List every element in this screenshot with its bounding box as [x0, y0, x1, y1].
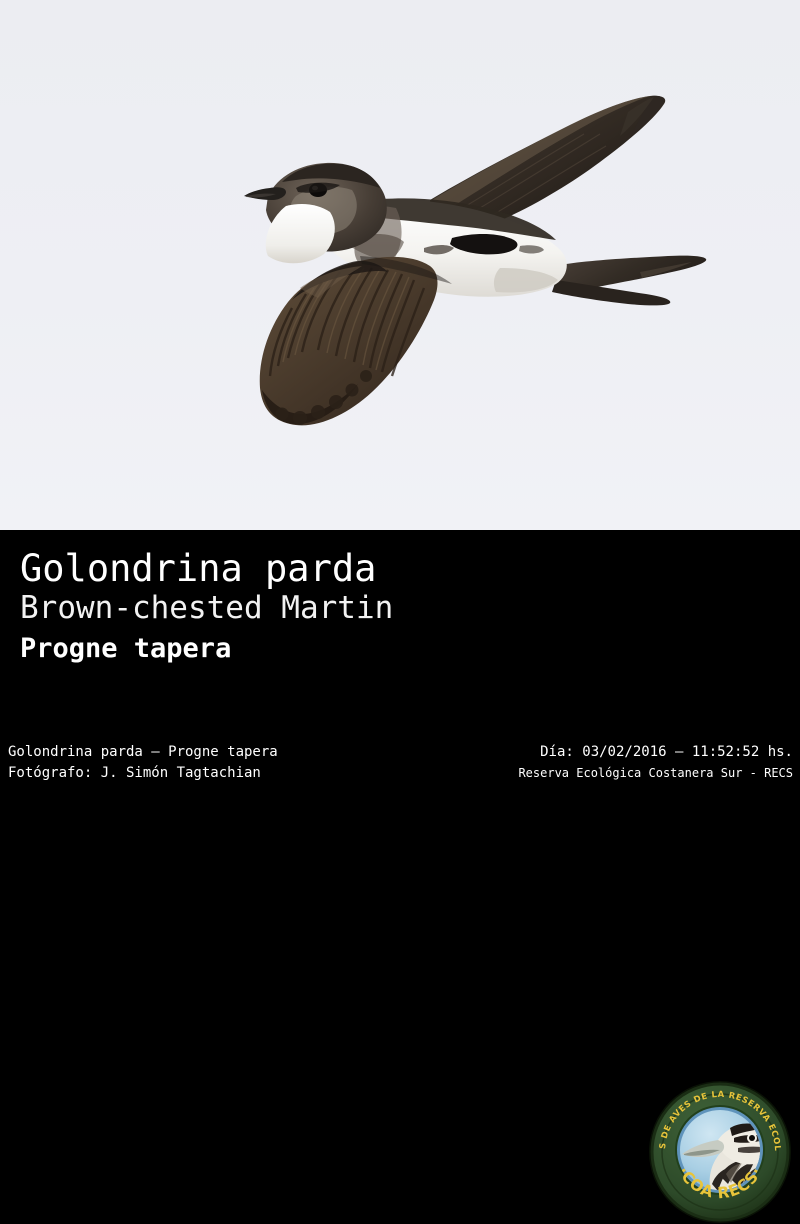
bird-photograph — [0, 0, 800, 530]
common-name-en: Brown-chested Martin — [20, 590, 393, 627]
footer-date-line: Día: 03/02/2016 – 11:52:52 hs. — [518, 742, 793, 763]
scientific-name: Progne tapera — [20, 632, 393, 665]
bird-illustration — [0, 0, 800, 530]
footer-right-block: Día: 03/02/2016 – 11:52:52 hs. Reserva E… — [518, 742, 793, 784]
footer-bar: Golondrina parda – Progne tapera Fotógra… — [0, 730, 800, 800]
photo-caption-card: Golondrina parda Brown-chested Martin Pr… — [0, 0, 800, 800]
species-titles: Golondrina parda Brown-chested Martin Pr… — [20, 548, 393, 665]
coa-recs-logo[interactable]: CLUB DE OBSERVADORES DE AVES DE LA RESER… — [648, 1080, 792, 1224]
footer-location-line: Reserva Ecológica Costanera Sur - RECS — [518, 763, 793, 784]
footer-photographer-line: Fotógrafo: J. Simón Tagtachian — [8, 763, 278, 784]
common-name-es: Golondrina parda — [20, 548, 393, 589]
caption-band: Golondrina parda Brown-chested Martin Pr… — [0, 530, 800, 730]
footer-species-line: Golondrina parda – Progne tapera — [8, 742, 278, 763]
footer-left-block: Golondrina parda – Progne tapera Fotógra… — [8, 742, 278, 784]
